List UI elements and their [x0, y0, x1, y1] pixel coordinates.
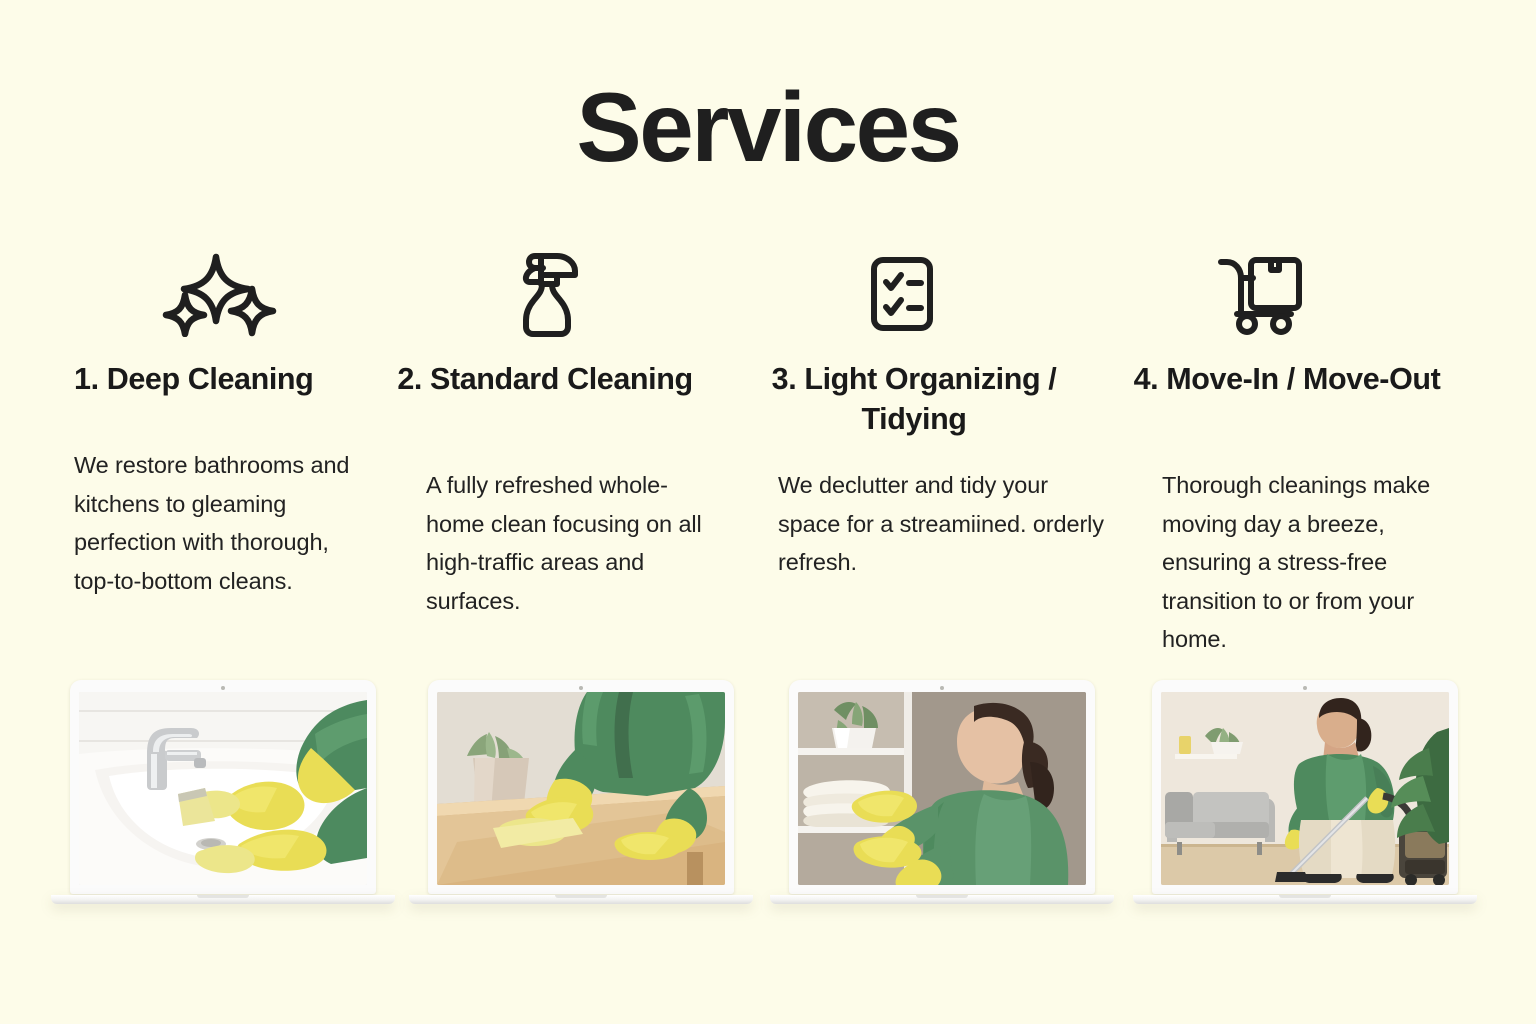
services-columns: 1. Deep Cleaning We restore bathrooms an… — [0, 248, 1536, 678]
laptop-camera-icon — [221, 686, 225, 690]
card-title: 2. Standard Cleaning — [380, 360, 710, 400]
service-card-light-organizing: 3. Light Organizing / Tidying We declutt… — [726, 248, 1110, 678]
checklist-icon — [862, 248, 942, 340]
card-title: 4. Move-In / Move-Out — [1122, 360, 1452, 400]
page-title: Services — [0, 78, 1536, 176]
laptop-camera-icon — [940, 686, 944, 690]
laptop-screen-image-table — [437, 692, 725, 885]
service-card-standard-cleaning: 2. Standard Cleaning A fully refreshed w… — [368, 248, 726, 678]
laptop-mockup-light-organizing — [789, 680, 1095, 904]
laptop-lid — [789, 680, 1095, 894]
card-body: Thorough cleanings make moving day a bre… — [1162, 466, 1442, 659]
card-body: We declutter and tidy your space for a s… — [778, 466, 1108, 582]
service-card-move-in-out: 4. Move-In / Move-Out Thorough cleanings… — [1110, 248, 1536, 678]
laptop-screen-image-vacuum — [1161, 692, 1449, 885]
service-card-deep-cleaning: 1. Deep Cleaning We restore bathrooms an… — [0, 248, 368, 678]
card-title: 3. Light Organizing / Tidying — [736, 360, 1092, 439]
laptop-mockup-standard-cleaning — [428, 680, 734, 904]
laptop-lid — [428, 680, 734, 894]
laptop-mockup-move-in-out — [1152, 680, 1458, 904]
laptop-base — [51, 895, 395, 904]
laptop-screen-image-sink — [79, 692, 367, 885]
sparkles-icon — [160, 248, 282, 340]
laptop-mockup-deep-cleaning — [70, 680, 376, 904]
laptop-screen-image-towels — [798, 692, 1086, 885]
spray-bottle-icon — [511, 248, 591, 340]
laptop-base — [770, 895, 1114, 904]
laptop-lid — [70, 680, 376, 894]
laptop-mockups-row — [0, 680, 1536, 925]
laptop-camera-icon — [1303, 686, 1307, 690]
laptop-base — [1133, 895, 1477, 904]
laptop-camera-icon — [579, 686, 583, 690]
card-title: 1. Deep Cleaning — [74, 360, 364, 400]
card-body: A fully refreshed whole-home clean focus… — [426, 466, 726, 620]
laptop-lid — [1152, 680, 1458, 894]
hand-truck-box-icon — [1215, 248, 1311, 340]
card-body: We restore bathrooms and kitchens to gle… — [74, 446, 362, 600]
laptop-base — [409, 895, 753, 904]
